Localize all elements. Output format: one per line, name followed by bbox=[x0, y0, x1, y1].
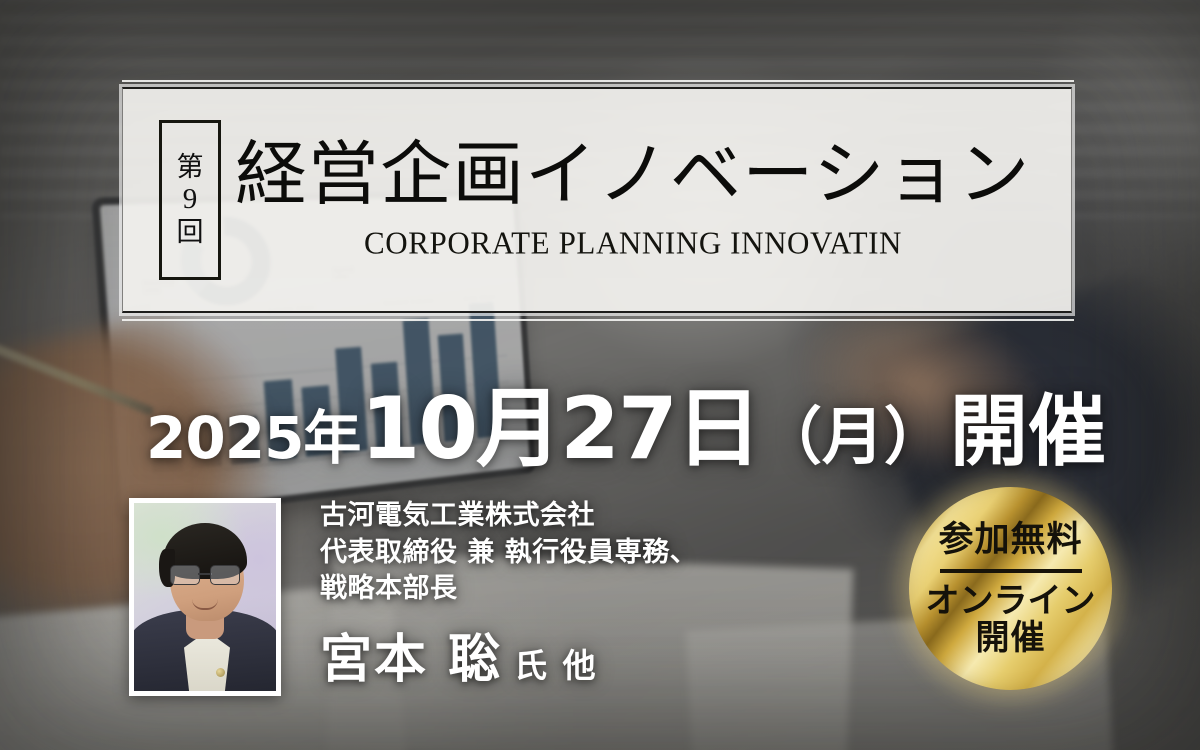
badge-held-label: 開催 bbox=[976, 620, 1046, 657]
date-month: 10月 bbox=[360, 358, 560, 483]
speaker-title-line-1: 代表取締役 兼 執行役員専務、 bbox=[320, 535, 880, 572]
status-badge: 参加無料 オンライン 開催 bbox=[909, 487, 1112, 690]
badge-free-label: 参加無料 bbox=[938, 523, 1082, 558]
avatar bbox=[129, 498, 281, 696]
panel-rule-bottom bbox=[122, 319, 1074, 321]
speaker-company: 古河電気工業株式会社 bbox=[320, 498, 880, 535]
glasses-icon bbox=[170, 565, 240, 584]
title-panel: 第 9 回 経営企画イノベーション CORPORATE PLANNING INN… bbox=[122, 87, 1072, 313]
page-title: 経営企画イノベーション bbox=[235, 139, 1030, 213]
date-day: 27日 bbox=[560, 358, 760, 483]
badge-divider bbox=[940, 569, 1082, 573]
speaker-name-row: 宮本 聡 氏 他 bbox=[320, 617, 880, 692]
event-banner: Column Chart Stacked Column Area Chart R… bbox=[0, 0, 1200, 750]
title-stack: 経営企画イノベーション CORPORATE PLANNING INNOVATIN bbox=[221, 139, 1071, 261]
date-held-label: 開催 bbox=[950, 369, 1106, 481]
speaker-name: 宮本 聡 bbox=[320, 617, 502, 692]
event-date: 2025年 10月 27日 （月） 開催 bbox=[146, 358, 1086, 450]
edition-suffix: 回 bbox=[177, 219, 204, 247]
edition-badge: 第 9 回 bbox=[159, 120, 221, 280]
speaker-name-suffix: 氏 他 bbox=[514, 639, 598, 687]
speaker-info: 古河電気工業株式会社 代表取締役 兼 執行役員専務、 戦略本部長 宮本 聡 氏 … bbox=[320, 498, 880, 692]
edition-prefix: 第 bbox=[177, 154, 204, 182]
date-year: 2025年 bbox=[146, 391, 360, 475]
edition-number: 9 bbox=[183, 185, 198, 215]
speaker-title-line-2: 戦略本部長 bbox=[320, 571, 880, 608]
date-weekday: （月） bbox=[760, 386, 946, 476]
page-subtitle: CORPORATE PLANNING INNOVATIN bbox=[364, 225, 902, 262]
panel-rule-top bbox=[122, 80, 1074, 82]
badge-online-label: オンライン bbox=[926, 583, 1096, 619]
portrait-image bbox=[134, 503, 276, 691]
